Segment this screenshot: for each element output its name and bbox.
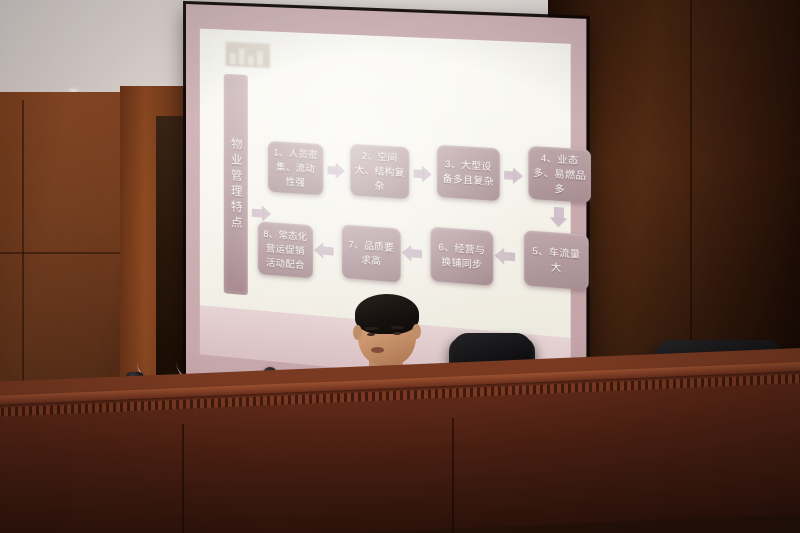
conference-room-photo: 物业管理特点 1、人员密集、流动性强 2、空间大、结构复杂 3、大型设备多且复杂 — [0, 0, 800, 533]
presenter-mouth — [371, 347, 384, 353]
desk-seam — [452, 418, 454, 533]
presenter-ear — [353, 325, 362, 340]
presenter-eye — [367, 333, 375, 336]
desk-seam — [182, 424, 184, 533]
presenter-brow — [365, 327, 378, 330]
wall-seam — [22, 100, 24, 390]
presenter-ear — [412, 324, 421, 339]
presenter-brow — [391, 326, 404, 329]
presenter-eye — [393, 332, 401, 335]
